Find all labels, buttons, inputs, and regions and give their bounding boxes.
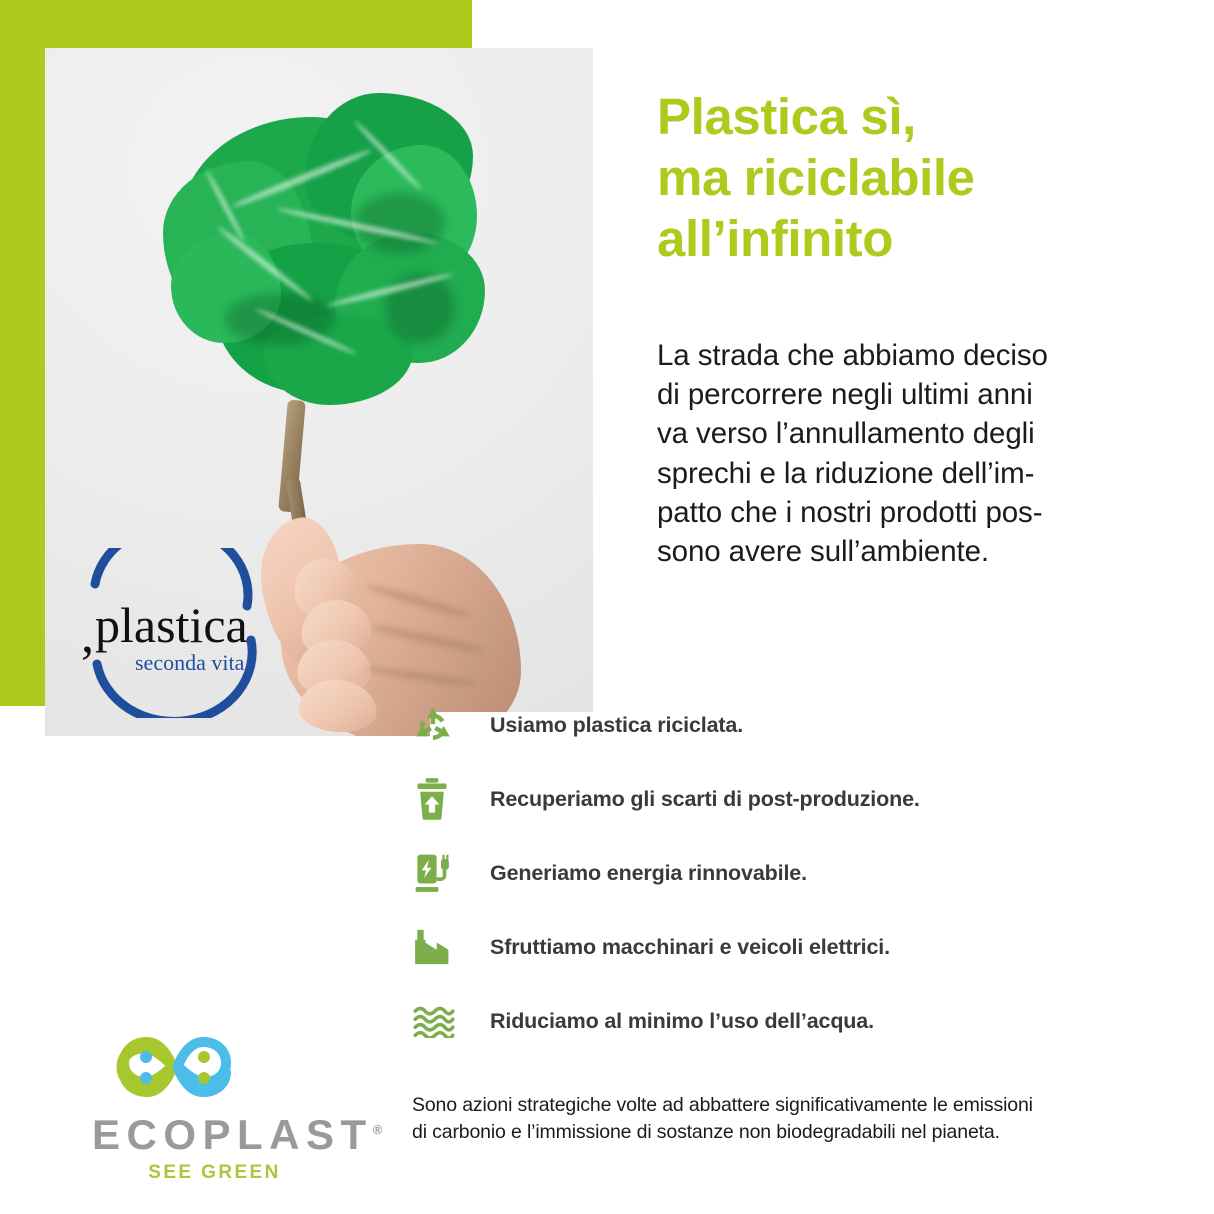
- trash-recover-icon: [412, 777, 490, 821]
- ecoplast-wordmark-text: ECOPLAST: [92, 1111, 373, 1158]
- intro-line-4: sprechi e la riduzione dell’im-: [657, 454, 1167, 493]
- ecoplast-logo: ECOPLAST® SEE GREEN: [92, 1022, 337, 1192]
- commitment-label: Usiamo plastica riciclata.: [490, 713, 743, 738]
- intro-paragraph: La strada che abbiamo decisodi percorrer…: [657, 336, 1167, 571]
- registered-mark: ®: [373, 1122, 383, 1137]
- commitment-item: Riduciamo al minimo l’uso dell’acqua.: [412, 984, 1112, 1058]
- commitment-label: Sfruttiamo macchinari e veicoli elettric…: [490, 935, 890, 960]
- ecoplast-wordmark: ECOPLAST®: [92, 1114, 337, 1156]
- headline-line-2: ma riciclabile: [657, 147, 1177, 208]
- factory-icon: [412, 929, 490, 965]
- poster-canvas: , plastica seconda vita Plastica sì, ma …: [0, 0, 1214, 1214]
- commitment-item: Sfruttiamo macchinari e veicoli elettric…: [412, 910, 1112, 984]
- svg-text:,: ,: [81, 607, 94, 664]
- intro-line-6: sono avere sull’ambiente.: [657, 532, 1167, 571]
- page-title: Plastica sì, ma riciclabile all’infinito: [657, 86, 1177, 270]
- plastic-tree-canopy: [155, 83, 485, 413]
- psv-title: plastica: [95, 597, 248, 653]
- headline-line-1: Plastica sì,: [657, 86, 1177, 147]
- headline-line-3: all’infinito: [657, 208, 1177, 269]
- water-waves-icon: [412, 1004, 490, 1038]
- plastica-seconda-vita-logo: , plastica seconda vita: [65, 548, 275, 718]
- recycle-icon: [412, 704, 490, 746]
- hero-photo: , plastica seconda vita: [45, 48, 593, 736]
- commitment-label: Riduciamo al minimo l’uso dell’acqua.: [490, 1009, 874, 1034]
- ecoplast-butterfly-mark: [114, 1022, 240, 1112]
- commitment-list: Usiamo plastica riciclata. Recuperiamo g…: [412, 688, 1112, 1058]
- note-line-1: Sono azioni strategiche volte ad abbatte…: [412, 1092, 1172, 1119]
- intro-line-2: di percorrere negli ultimi anni: [657, 375, 1167, 414]
- commitment-label: Generiamo energia rinnovabile.: [490, 861, 807, 886]
- commitment-item: Recuperiamo gli scarti di post-produzion…: [412, 762, 1112, 836]
- ev-charger-icon: [412, 852, 490, 894]
- footer-note: Sono azioni strategiche volte ad abbatte…: [412, 1092, 1172, 1146]
- intro-line-3: va verso l’annullamento degli: [657, 414, 1167, 453]
- commitment-label: Recuperiamo gli scarti di post-produzion…: [490, 787, 920, 812]
- ecoplast-tagline: SEE GREEN: [92, 1162, 337, 1184]
- commitment-item: Generiamo energia rinnovabile.: [412, 836, 1112, 910]
- note-line-2: di carbonio e l’immissione di sostanze n…: [412, 1119, 1172, 1146]
- intro-line-1: La strada che abbiamo deciso: [657, 336, 1167, 375]
- psv-subtitle: seconda vita: [135, 650, 245, 675]
- commitment-item: Usiamo plastica riciclata.: [412, 688, 1112, 762]
- intro-line-5: patto che i nostri prodotti pos-: [657, 493, 1167, 532]
